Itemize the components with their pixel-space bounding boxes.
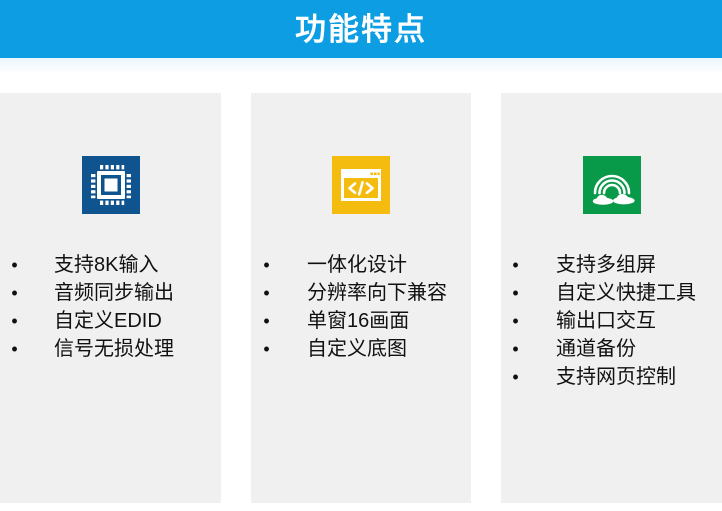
bullet-icon: • (509, 307, 522, 335)
bullet-icon: • (8, 335, 21, 363)
list-item-label: 通道备份 (556, 335, 636, 363)
list-item[interactable]: • 自定义快捷工具 (501, 279, 722, 307)
list-item[interactable]: • 一体化设计 (251, 251, 471, 279)
feature-card-2-list: • 一体化设计 • 分辨率向下兼容 • 单窗16画面 • 自定义底图 (251, 251, 471, 363)
feature-card-1-list: • 支持8K输入 • 音频同步输出 • 自定义EDID • 信号无损处理 (0, 251, 221, 363)
feature-card-3[interactable]: • 支持多组屏 • 自定义快捷工具 • 输出口交互 • 通道备份 • 支持网页控… (501, 93, 722, 503)
feature-card-3-icon-wrap (501, 155, 722, 215)
bullet-icon: • (260, 307, 273, 335)
list-item-label: 一体化设计 (307, 251, 407, 279)
feature-cards-row: • 支持8K输入 • 音频同步输出 • 自定义EDID • 信号无损处理 (0, 93, 722, 503)
bullet-icon: • (8, 307, 21, 335)
list-item[interactable]: • 支持8K输入 (0, 251, 221, 279)
list-item[interactable]: • 通道备份 (501, 335, 722, 363)
list-item-label: 音频同步输出 (54, 279, 174, 307)
bullet-icon: • (509, 279, 522, 307)
list-item[interactable]: • 支持网页控制 (501, 363, 722, 391)
list-item-label: 自定义快捷工具 (556, 279, 696, 307)
list-item-label: 单窗16画面 (307, 307, 409, 335)
bullet-icon: • (509, 251, 522, 279)
list-item[interactable]: • 音频同步输出 (0, 279, 221, 307)
list-item[interactable]: • 自定义底图 (251, 335, 471, 363)
code-window-icon (332, 156, 390, 214)
list-item[interactable]: • 自定义EDID (0, 307, 221, 335)
rainbow-cloud-icon (583, 156, 641, 214)
bullet-icon: • (260, 251, 273, 279)
list-item-label: 信号无损处理 (54, 335, 174, 363)
bullet-icon: • (8, 251, 21, 279)
list-item[interactable]: • 单窗16画面 (251, 307, 471, 335)
list-item-label: 支持8K输入 (54, 251, 158, 279)
cpu-chip-icon (82, 156, 140, 214)
feature-card-2[interactable]: • 一体化设计 • 分辨率向下兼容 • 单窗16画面 • 自定义底图 (251, 93, 471, 503)
feature-card-1[interactable]: • 支持8K输入 • 音频同步输出 • 自定义EDID • 信号无损处理 (0, 93, 221, 503)
feature-card-1-icon-wrap (0, 155, 221, 215)
bullet-icon: • (509, 363, 522, 391)
feature-card-2-icon-wrap (251, 155, 471, 215)
header-glow-divider (0, 58, 722, 74)
list-item-label: 输出口交互 (556, 307, 656, 335)
bullet-icon: • (260, 279, 273, 307)
list-item-label: 自定义EDID (54, 307, 162, 335)
feature-card-3-list: • 支持多组屏 • 自定义快捷工具 • 输出口交互 • 通道备份 • 支持网页控… (501, 251, 722, 391)
list-item-label: 支持网页控制 (556, 363, 676, 391)
page-header-banner: 功能特点 (0, 0, 722, 58)
bullet-icon: • (260, 335, 273, 363)
list-item[interactable]: • 信号无损处理 (0, 335, 221, 363)
list-item[interactable]: • 分辨率向下兼容 (251, 279, 471, 307)
list-item[interactable]: • 输出口交互 (501, 307, 722, 335)
list-item-label: 支持多组屏 (556, 251, 656, 279)
page-title: 功能特点 (295, 14, 427, 45)
list-item-label: 分辨率向下兼容 (307, 279, 447, 307)
bullet-icon: • (8, 279, 21, 307)
list-item-label: 自定义底图 (307, 335, 407, 363)
list-item[interactable]: • 支持多组屏 (501, 251, 722, 279)
bullet-icon: • (509, 335, 522, 363)
